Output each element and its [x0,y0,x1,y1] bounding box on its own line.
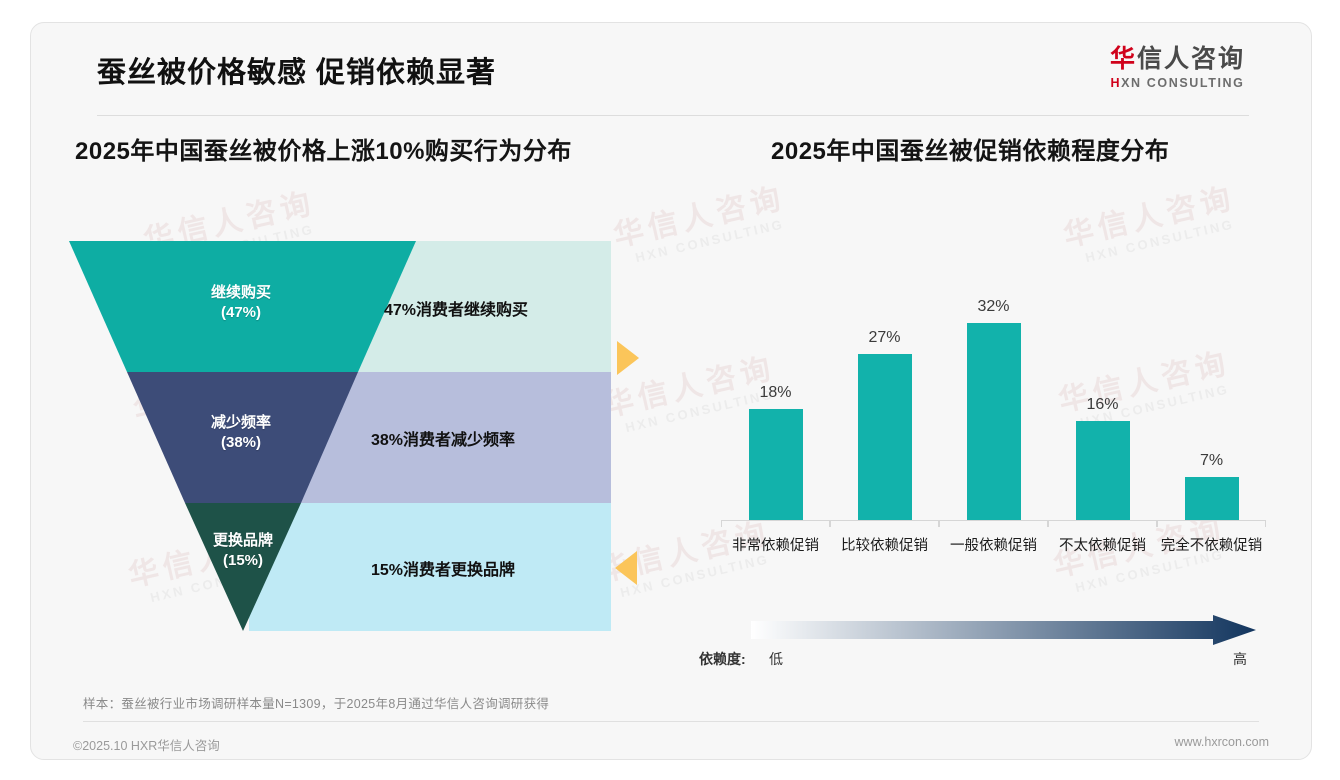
dependency-gradient-legend: 依赖度: 低 高 [691,609,1271,679]
x-axis-category-labels: 非常依赖促销比较依赖促销一般依赖促销不太依赖促销完全不依赖促销 [721,534,1266,555]
slide-canvas: 华信人咨询 HXN CONSULTING 华信人咨询 HXN CONSULTIN… [30,22,1312,760]
logo-english: HXN CONSULTING [1110,76,1245,90]
axis-tick [721,520,722,527]
bar-column: 18% [721,298,830,520]
copyright-text: ©2025.10 HXR华信人咨询 [73,735,220,754]
bar-rect [749,409,803,520]
funnel-label-1: 减少频率 (38%) [121,413,361,453]
funnel-label-pct-0: (47%) [221,304,261,321]
sample-note: 样本：蚕丝被行业市场调研样本量N=1309，于2025年8月通过华信人咨询调研获… [83,693,549,712]
x-axis-tick-label: 完全不依赖促销 [1157,534,1266,555]
play-right-triangle-icon [617,341,639,375]
x-axis-tick-label: 一般依赖促销 [939,534,1048,555]
watermark-en: HXN CONSULTING [1084,216,1242,264]
legend-low-label: 低 [769,649,783,669]
website-link[interactable]: www.hxrcon.com [1175,735,1269,749]
axis-tick [830,520,831,527]
page-title: 蚕丝被价格敏感 促销依赖显著 [97,49,496,91]
left-chart-title: 2025年中国蚕丝被价格上涨10%购买行为分布 [75,131,572,166]
funnel-label-text-2: 更换品牌 [213,532,273,549]
x-axis-tick-label: 比较依赖促销 [830,534,939,555]
bar-rect [967,323,1021,520]
watermark-cn: 华信人咨询 [1061,184,1238,253]
bar-value-label: 16% [1086,396,1118,414]
logo-chinese-rest: 信人咨询 [1137,45,1245,73]
bar-column: 16% [1048,298,1157,520]
funnel-label-2: 更换品牌 (15%) [123,531,363,571]
axis-tick [1157,520,1158,527]
funnel-label-text-1: 减少频率 [211,414,271,431]
slide-header: 蚕丝被价格敏感 促销依赖显著 华信人咨询 HXN CONSULTING [31,23,1311,121]
funnel-label-pct-1: (38%) [221,434,261,451]
x-axis-tick-label: 非常依赖促销 [721,534,830,555]
watermark: 华信人咨询 HXN CONSULTING [611,184,792,268]
bar-value-label: 27% [868,329,900,347]
funnel-side-text-0: 47%消费者继续购买 [384,296,528,320]
funnel-side-text-1: 38%消费者减少频率 [371,426,515,450]
legend-title: 依赖度: [699,649,746,669]
bar-series: 18%27%32%16%7% [721,298,1266,520]
bar-rect [858,354,912,521]
right-chart-title: 2025年中国蚕丝被促销依赖程度分布 [771,131,1169,166]
watermark-en: HXN CONSULTING [634,216,792,264]
axis-tick [939,520,940,527]
axis-tick [1265,520,1266,527]
gradient-arrow-icon [751,615,1256,645]
bar-rect [1185,477,1239,520]
x-axis-tick-label: 不太依赖促销 [1048,534,1157,555]
axis-tick [1048,520,1049,527]
bar-column: 32% [939,298,1048,520]
logo-english-rest: XN CONSULTING [1121,76,1244,90]
bar-value-label: 32% [977,298,1009,316]
watermark: 华信人咨询 HXN CONSULTING [1061,184,1242,268]
x-axis-line [721,520,1266,521]
bar-column: 7% [1157,298,1266,520]
company-logo: 华信人咨询 HXN CONSULTING [1110,45,1245,90]
legend-high-label: 高 [1233,649,1247,669]
bar-value-label: 18% [759,384,791,402]
funnel-label-text-0: 继续购买 [211,284,271,301]
funnel-chart: 继续购买 (47%) 减少频率 (38%) 更换品牌 (15%) 47%消费者继… [69,241,611,631]
logo-english-accent: H [1110,76,1121,90]
funnel-label-pct-2: (15%) [223,552,263,569]
bar-value-label: 7% [1200,452,1223,470]
promotion-dependency-bar-chart: 18%27%32%16%7% 非常依赖促销比较依赖促销一般依赖促销不太依赖促销完… [691,273,1271,573]
play-left-triangle-icon [615,551,637,585]
bar-column: 27% [830,298,939,520]
watermark-cn: 华信人咨询 [611,184,788,253]
logo-chinese: 华信人咨询 [1110,45,1245,73]
funnel-label-0: 继续购买 (47%) [121,283,361,323]
logo-chinese-accent: 华 [1110,45,1137,73]
bar-rect [1076,421,1130,520]
header-divider [97,115,1249,116]
funnel-side-text-2: 15%消费者更换品牌 [371,556,515,580]
footer-divider [83,721,1259,722]
